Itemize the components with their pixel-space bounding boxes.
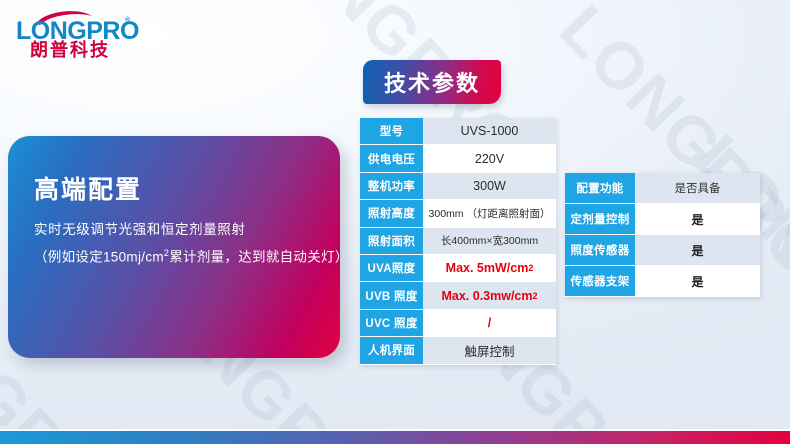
table-row-key: UVA照度	[360, 255, 423, 282]
table-row-value: 220V	[423, 145, 556, 172]
table-row-value: 是否具备	[635, 173, 760, 204]
hero-card: 高端配置 实时无级调节光强和恒定剂量照射 （例如设定150mj/cm2累计剂量，…	[8, 136, 340, 358]
table-row-key: 整机功率	[360, 173, 423, 200]
table-row-key: 照射高度	[360, 200, 423, 227]
table-row-key: UVB 照度	[360, 282, 423, 309]
table-row: 供电电压220V	[360, 145, 556, 172]
table-row-value: 是	[635, 266, 760, 297]
table-row: 定剂量控制是	[565, 204, 760, 235]
table-row: UVC 照度/	[360, 310, 556, 337]
table-row-value: UVS-1000	[423, 118, 556, 145]
table-row-key: 传感器支架	[565, 266, 635, 297]
feature-table: 配置功能是否具备定剂量控制是照度传感器是传感器支架是	[565, 173, 760, 297]
table-row-value: 300mm （灯距离照射面）	[423, 200, 556, 227]
table-row-value: /	[423, 310, 556, 337]
table-row: UVB 照度Max. 0.3mw/cm2	[360, 282, 556, 309]
bottom-gradient-bar	[0, 431, 790, 444]
table-row: UVA照度Max. 5mW/cm2	[360, 255, 556, 282]
hero-subtitle: 实时无级调节光强和恒定剂量照射	[34, 223, 246, 237]
table-row-value: 是	[635, 204, 760, 235]
table-row-value: 触屏控制	[423, 337, 556, 364]
table-row: 型号UVS-1000	[360, 118, 556, 145]
table-row: 传感器支架是	[565, 266, 760, 297]
table-row: 照度传感器是	[565, 235, 760, 266]
hero-title: 高端配置	[34, 178, 142, 203]
table-row-value: Max. 5mW/cm2	[423, 255, 556, 282]
table-row-value: Max. 0.3mw/cm2	[423, 282, 556, 309]
table-row: 照射高度300mm （灯距离照射面）	[360, 200, 556, 227]
registered-mark: ®	[125, 17, 130, 24]
slide-root: LONGPRO LONGPRO LONGPRO LONGPRO LONGPRO …	[0, 0, 790, 444]
table-row-key: 照射面积	[360, 228, 423, 255]
table-row: 配置功能是否具备	[565, 173, 760, 204]
brand-logo: LONGPRO ® 朗普科技	[14, 10, 144, 58]
table-row-key: 供电电压	[360, 145, 423, 172]
table-row-value: 是	[635, 235, 760, 266]
table-row-key: UVC 照度	[360, 310, 423, 337]
table-row: 照射面积长400mm×宽300mm	[360, 228, 556, 255]
table-row-value: 300W	[423, 173, 556, 200]
table-row-key: 型号	[360, 118, 423, 145]
hero-note: （例如设定150mj/cm2累计剂量，达到就自动关灯）	[34, 249, 349, 264]
hero-note-prefix: （例如设定150mj/cm	[34, 250, 164, 265]
table-row-key: 照度传感器	[565, 235, 635, 266]
logo-text-cn: 朗普科技	[30, 41, 110, 59]
table-row: 整机功率300W	[360, 173, 556, 200]
table-row-key: 人机界面	[360, 337, 423, 364]
table-row: 人机界面触屏控制	[360, 337, 556, 364]
table-row-value: 长400mm×宽300mm	[423, 228, 556, 255]
spec-table: 型号UVS-1000供电电压220V整机功率300W照射高度300mm （灯距离…	[360, 118, 556, 365]
section-banner-title: 技术参数	[363, 60, 501, 104]
hero-note-suffix: 累计剂量，达到就自动关灯）	[169, 250, 348, 265]
table-row-key: 配置功能	[565, 173, 635, 204]
table-row-key: 定剂量控制	[565, 204, 635, 235]
section-banner: 技术参数	[363, 60, 501, 104]
